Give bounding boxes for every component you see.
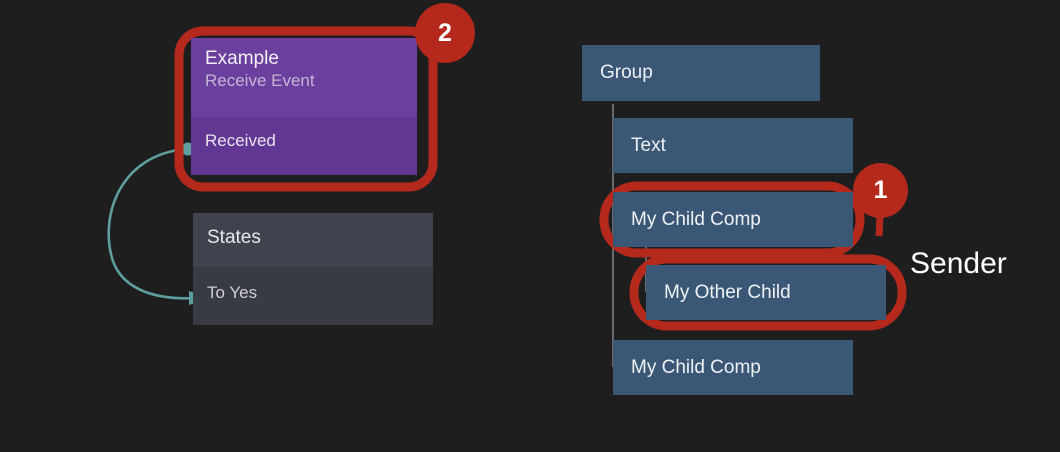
tree-item-label: Text (631, 135, 666, 157)
event-node-header: Example Receive Event (191, 38, 417, 117)
badge-1-stem (879, 216, 880, 236)
states-node-to-yes-row[interactable]: To Yes (207, 283, 419, 303)
tree-item-label: My Child Comp (631, 209, 761, 231)
tree-item-my-child-comp-2[interactable]: My Child Comp (613, 340, 853, 395)
tree-item-label: My Child Comp (631, 357, 761, 379)
tree-item-my-other-child[interactable]: My Other Child (646, 265, 886, 320)
states-node-body: To Yes (193, 267, 433, 325)
tree-item-text[interactable]: Text (613, 118, 853, 173)
states-node[interactable]: States To Yes (193, 213, 433, 325)
annotation-layer (0, 0, 1060, 452)
event-node-subtitle: Receive Event (205, 70, 403, 92)
tree-item-group[interactable]: Group (582, 45, 820, 101)
tree-item-label: My Other Child (664, 282, 791, 304)
annotation-badge-2: 2 (415, 3, 475, 63)
tree-item-label: Group (600, 62, 653, 84)
event-node-title: Example (205, 48, 403, 70)
states-node-title: States (207, 227, 419, 249)
diagram-canvas: Example Receive Event Received States To… (0, 0, 1060, 452)
tree-item-my-child-comp-1[interactable]: My Child Comp (613, 192, 853, 247)
event-node[interactable]: Example Receive Event Received (191, 38, 417, 175)
annotation-badge-1: 1 (853, 163, 908, 218)
states-node-header: States (193, 213, 433, 267)
event-node-received-port[interactable]: Received (205, 131, 403, 151)
event-node-body: Received (191, 117, 417, 175)
sender-label: Sender (910, 247, 1007, 281)
